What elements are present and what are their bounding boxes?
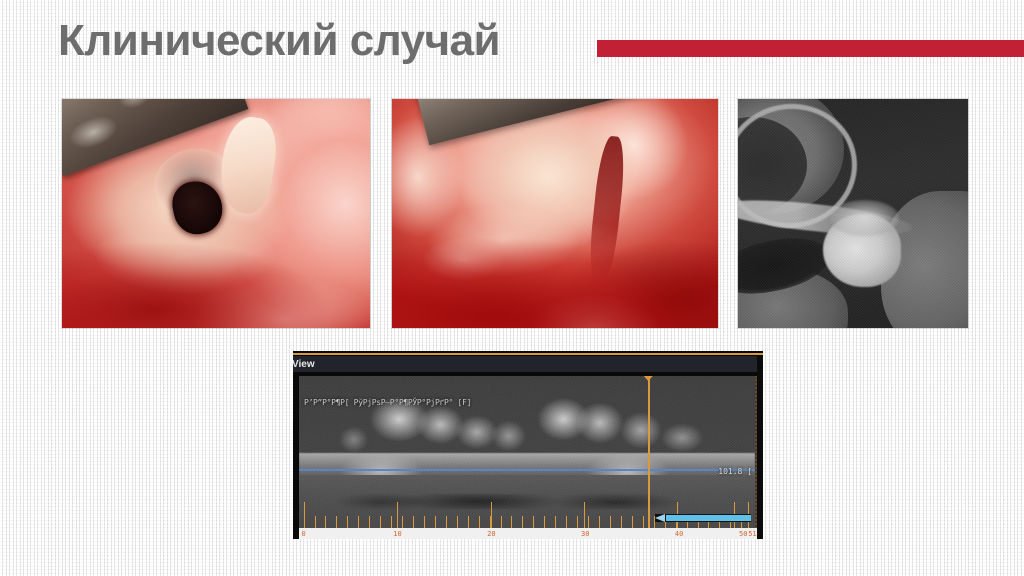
ruler-tick-label: 40 xyxy=(675,531,683,538)
cbct-software-panel[interactable]: View Р’Р”Р°Р¶Р[ РўРјРѕР—Р°Р¶РЎР°РјРґР° [… xyxy=(293,351,763,539)
ruler-tick-label: 50 xyxy=(739,531,747,538)
scrollbar-thumb[interactable] xyxy=(666,515,751,521)
ruler-label-row: 0102030405051 xyxy=(299,528,757,539)
ct3-image-noise xyxy=(738,99,968,328)
photo2-blood-field xyxy=(392,99,718,328)
page-title: Клинический случай xyxy=(58,18,500,64)
ruler-tick-label: 10 xyxy=(393,531,401,538)
panoramic-viewport[interactable]: Р’Р”Р°Р¶Р[ РўРјРѕР—Р°Р¶РЎР°РјРґР° [F] 10… xyxy=(299,376,757,536)
ruler-tick-label: 0 xyxy=(301,531,305,538)
panel-title-label: View xyxy=(293,359,315,370)
cbct-cross-section xyxy=(738,99,968,328)
scroll-left-arrow-icon[interactable] xyxy=(655,514,665,522)
photo1-blood-field xyxy=(62,99,370,328)
horizontal-scrollbar[interactable] xyxy=(655,514,751,522)
measurement-readout: 101.8 [ xyxy=(718,467,752,476)
panel-titlebar[interactable]: View xyxy=(293,356,763,372)
ruler-tick-label: 30 xyxy=(581,531,589,538)
intraoperative-photo-1 xyxy=(62,99,370,328)
ruler-tick-label: 20 xyxy=(487,531,495,538)
panel-right-edge xyxy=(757,356,763,539)
viewport-overlay-label: Р’Р”Р°Р¶Р[ РўРјРѕР—Р°Р¶РЎР°РјРґР° [F] xyxy=(304,398,471,407)
panel-top-accent-rule xyxy=(293,353,763,355)
intraoperative-photo-2 xyxy=(392,99,718,328)
title-accent-bar xyxy=(597,40,1024,57)
horizontal-reference-line[interactable] xyxy=(299,469,755,471)
ruler-tick-label: 51 xyxy=(748,531,756,538)
